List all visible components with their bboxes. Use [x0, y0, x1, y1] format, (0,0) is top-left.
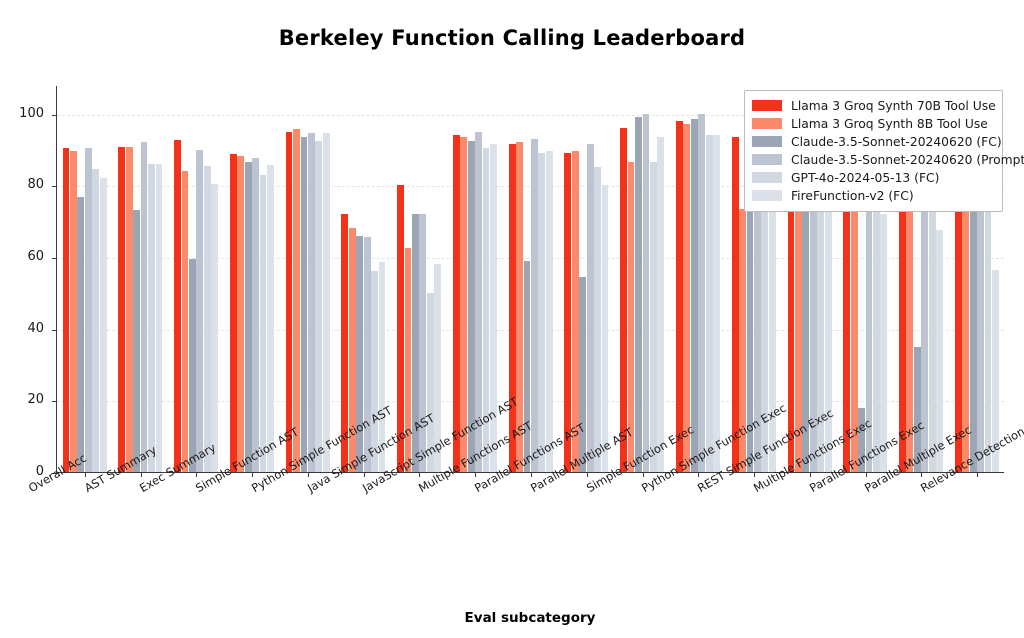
legend-label: Llama 3 Groq Synth 8B Tool Use: [791, 117, 988, 131]
x-axis-label: Eval subcategory: [56, 610, 1004, 626]
x-tick-mark: [531, 472, 532, 477]
y-tick-mark: [52, 330, 57, 331]
bar: [531, 139, 538, 472]
x-tick-mark: [252, 472, 253, 477]
bar: [63, 148, 70, 472]
y-tick-mark: [52, 401, 57, 402]
bar: [538, 153, 545, 472]
x-tick-label: AST Summary: [82, 483, 89, 495]
x-tick-mark: [866, 472, 867, 477]
bar: [260, 175, 267, 472]
bar: [602, 185, 609, 472]
bar: [133, 210, 140, 472]
x-tick-label: Relevance Detection: [918, 483, 925, 495]
bar: [70, 151, 77, 472]
bar: [245, 162, 252, 472]
bar: [985, 167, 992, 472]
bar: [211, 184, 218, 472]
legend-label: Claude-3.5-Sonnet-20240620 (Prompt): [791, 153, 1024, 167]
legend-label: Claude-3.5-Sonnet-20240620 (FC): [791, 135, 1002, 149]
bar: [267, 165, 274, 472]
bar: [126, 147, 133, 472]
x-tick-mark: [810, 472, 811, 477]
bar: [706, 135, 713, 472]
bar: [691, 119, 698, 472]
x-tick-label: JavaScript Simple Function AST: [360, 483, 367, 495]
legend-label: Llama 3 Groq Synth 70B Tool Use: [791, 99, 996, 113]
x-tick-mark: [475, 472, 476, 477]
bar: [880, 214, 887, 472]
legend-item[interactable]: Llama 3 Groq Synth 8B Tool Use: [752, 115, 994, 132]
legend-swatch: [752, 118, 782, 129]
bar: [189, 259, 196, 472]
bar: [308, 133, 315, 472]
bar: [237, 156, 244, 472]
x-tick-label: Exec Summary: [137, 483, 144, 495]
x-tick-mark: [85, 472, 86, 477]
bar: [301, 137, 308, 472]
bar: [524, 261, 531, 472]
legend-item[interactable]: Claude-3.5-Sonnet-20240620 (FC): [752, 133, 994, 150]
x-tick-label: Parallel Functions AST: [472, 483, 479, 495]
x-tick-mark: [141, 472, 142, 477]
y-tick-mark: [52, 186, 57, 187]
legend-label: FireFunction-v2 (FC): [791, 189, 914, 203]
x-tick-label: Python Simple Function AST: [249, 483, 256, 495]
bar: [732, 137, 739, 472]
bar: [141, 142, 148, 472]
bar: [230, 154, 237, 472]
x-tick-label: Parallel Multiple AST: [528, 483, 535, 495]
bar: [509, 144, 516, 472]
bar: [453, 135, 460, 472]
bar: [364, 237, 371, 472]
x-tick-label: Parallel Multiple Exec: [862, 483, 869, 495]
bar: [252, 158, 259, 472]
x-tick-mark: [587, 472, 588, 477]
x-tick-mark: [754, 472, 755, 477]
y-tick-mark: [52, 258, 57, 259]
bar: [148, 164, 155, 472]
x-tick-label: Simple Function Exec: [584, 483, 591, 495]
legend-swatch: [752, 172, 782, 183]
bar: [620, 128, 627, 472]
x-tick-label: Python Simple Function Exec: [639, 483, 646, 495]
bar: [100, 178, 107, 472]
legend-swatch: [752, 190, 782, 201]
x-tick-mark: [921, 472, 922, 477]
bar: [698, 114, 705, 472]
bar: [635, 117, 642, 472]
x-tick-label: REST Simple Function Exec: [695, 483, 702, 495]
legend-swatch: [752, 100, 782, 111]
bar: [761, 194, 768, 472]
bar: [650, 162, 657, 472]
legend-label: GPT-4o-2024-05-13 (FC): [791, 171, 939, 185]
x-tick-label: Multiple Functions Exec: [751, 483, 758, 495]
bar: [293, 129, 300, 472]
legend-swatch: [752, 154, 782, 165]
bar: [196, 150, 203, 473]
bar: [676, 121, 683, 472]
x-tick-label: Java Simple Function AST: [305, 483, 312, 495]
bar: [579, 277, 586, 472]
bar: [286, 132, 293, 472]
bar: [587, 144, 594, 472]
x-tick-label: Simple Function AST: [193, 483, 200, 495]
chart-legend[interactable]: Llama 3 Groq Synth 70B Tool UseLlama 3 G…: [744, 90, 1003, 212]
bar: [419, 214, 426, 472]
bar: [929, 203, 936, 472]
bar: [182, 171, 189, 472]
bar: [643, 114, 650, 472]
bar: [713, 135, 720, 472]
legend-item[interactable]: Claude-3.5-Sonnet-20240620 (Prompt): [752, 151, 994, 168]
x-tick-label: Multiple Functions AST: [416, 483, 423, 495]
bar: [118, 147, 125, 472]
bar: [92, 169, 99, 472]
bar: [156, 164, 163, 472]
legend-item[interactable]: FireFunction-v2 (FC): [752, 187, 994, 204]
bar: [546, 151, 553, 472]
x-tick-mark: [977, 472, 978, 477]
bar: [683, 124, 690, 472]
x-tick-mark: [308, 472, 309, 477]
bar: [174, 140, 181, 472]
bar: [594, 167, 601, 472]
bar: [315, 141, 322, 472]
legend-item[interactable]: Llama 3 Groq Synth 70B Tool Use: [752, 97, 994, 114]
bar: [657, 137, 664, 472]
legend-swatch: [752, 136, 782, 147]
y-tick-mark: [52, 115, 57, 116]
x-tick-mark: [196, 472, 197, 477]
bar: [323, 133, 330, 472]
bar: [85, 148, 92, 472]
chart-figure: Berkeley Function Calling Leaderboard Ac…: [0, 0, 1024, 638]
x-tick-mark: [419, 472, 420, 477]
chart-title: Berkeley Function Calling Leaderboard: [0, 26, 1024, 50]
x-tick-mark: [643, 472, 644, 477]
x-tick-label: Overall Acc: [26, 483, 33, 495]
bar: [204, 166, 211, 472]
x-tick-mark: [364, 472, 365, 477]
bar: [564, 153, 571, 472]
legend-item[interactable]: GPT-4o-2024-05-13 (FC): [752, 169, 994, 186]
bar: [77, 197, 84, 472]
x-tick-label: Parallel Functions Exec: [807, 483, 814, 495]
x-tick-mark: [698, 472, 699, 477]
